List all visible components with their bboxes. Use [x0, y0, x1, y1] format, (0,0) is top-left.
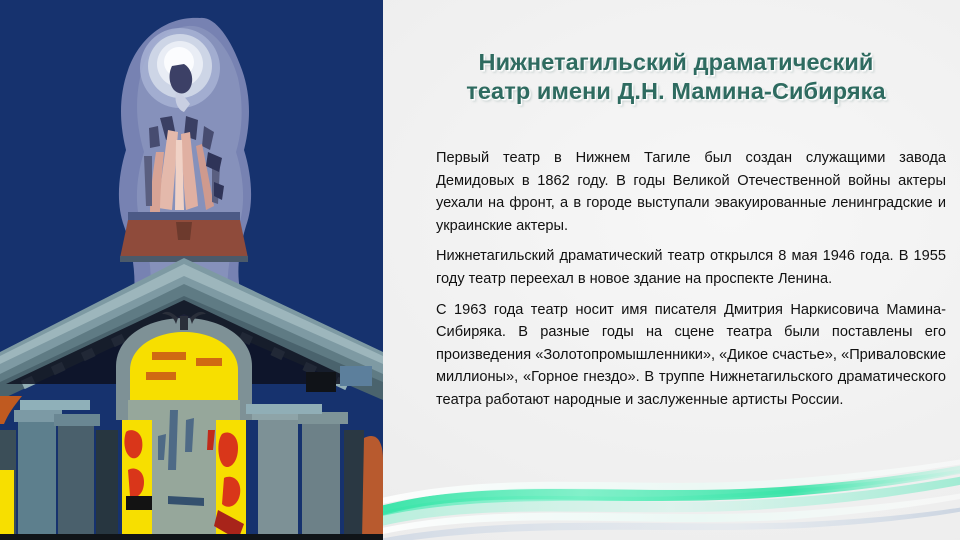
paragraph-1: Первый театр в Нижнем Тагиле был создан …	[436, 147, 946, 237]
page-title: Нижнетагильский драматический театр имен…	[400, 48, 952, 105]
paragraph-3: С 1963 года театр носит имя писателя Дми…	[436, 299, 946, 412]
page-title-line-2: театр имени Д.Н. Мамина-Сибиряка	[400, 77, 952, 106]
theater-illustration	[0, 0, 383, 540]
paragraph-2: Нижнетагильский драматический театр откр…	[436, 245, 946, 290]
central-bay	[122, 400, 246, 540]
slide: Нижнетагильский драматический театр имен…	[0, 0, 960, 540]
statue-plinth	[120, 212, 248, 262]
body-text: Первый театр в Нижнем Тагиле был создан …	[436, 147, 946, 412]
page-title-line-1: Нижнетагильский драматический	[400, 48, 952, 77]
